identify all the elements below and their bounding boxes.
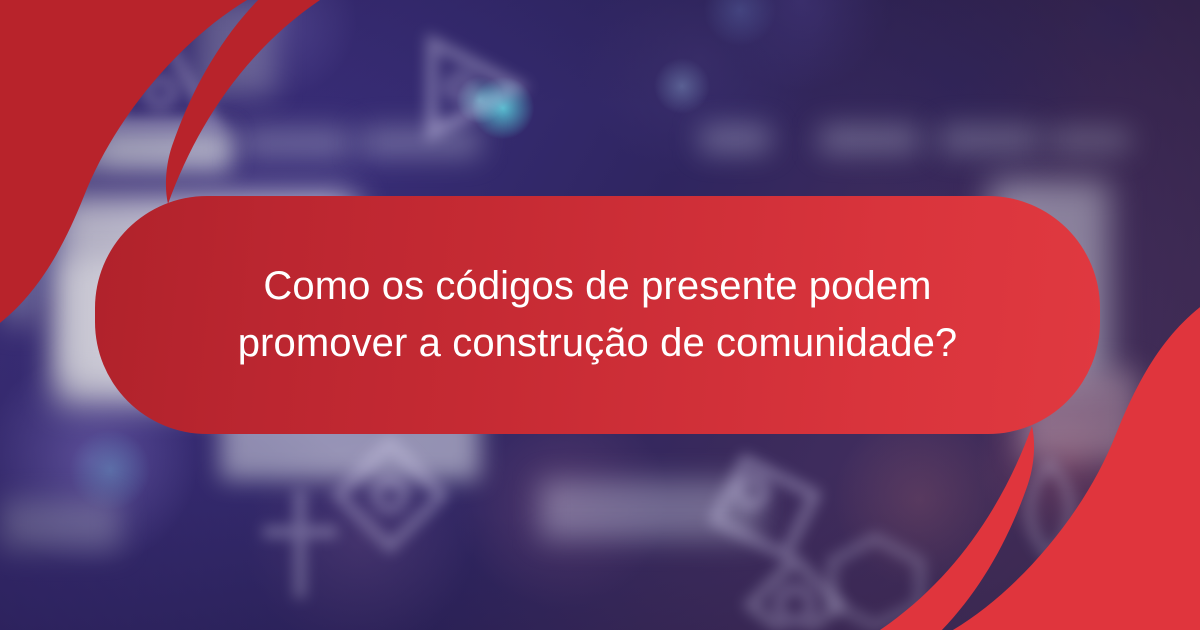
play-triangle-glyph-icon (410, 30, 530, 145)
title-card: Como os códigos de presente podem promov… (95, 196, 1100, 434)
lens-glyph-icon (1015, 455, 1085, 565)
banner-canvas: Como os códigos de presente podem promov… (0, 0, 1200, 630)
page-title: Como os códigos de presente podem promov… (135, 258, 1060, 372)
triangle-glyph-icon (95, 20, 225, 140)
cross-glyph-icon (255, 480, 345, 620)
hexagon-glyph-icon (820, 530, 930, 630)
diamond-glyph-icon (330, 435, 450, 555)
